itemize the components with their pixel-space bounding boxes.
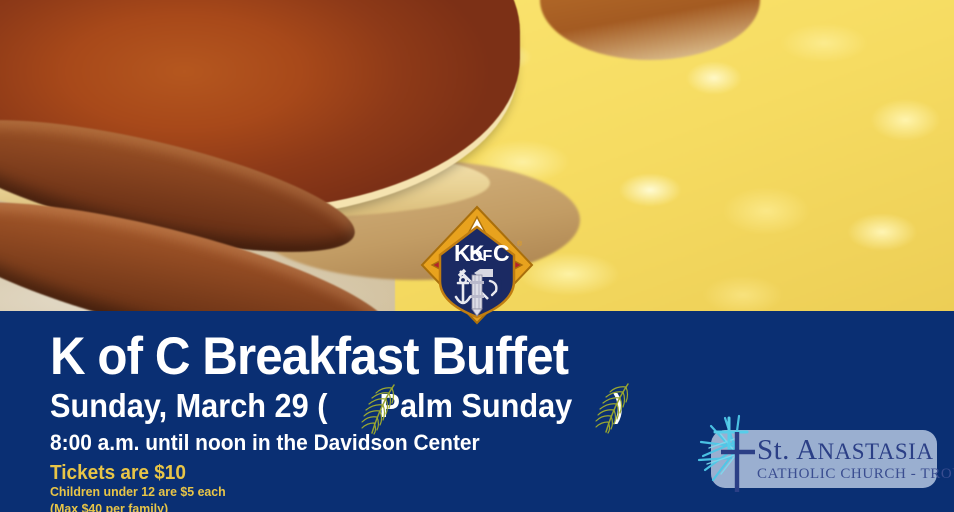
- church-name-prefix: St.: [757, 434, 796, 466]
- church-logo-text: St. ANASTASIA CATHOLIC CHURCH - TROY: [757, 436, 954, 482]
- svg-text:K: K: [454, 240, 471, 266]
- ticket-pricing: Tickets are $10 Children under 12 are $5…: [50, 462, 226, 512]
- church-subtitle: CATHOLIC CHURCH - TROY: [757, 467, 954, 482]
- church-name-initial: A: [796, 434, 817, 466]
- event-date-line: Sunday, March 29 ( Palm Sunday ): [50, 389, 623, 422]
- poster-root: K . K OF C ®: [0, 0, 954, 512]
- event-date-prefix: Sunday, March 29 (: [50, 389, 327, 422]
- ticket-children-line: Children under 12 are $5 each: [50, 484, 226, 500]
- ticket-price-line: Tickets are $10: [50, 462, 226, 484]
- svg-text:®: ®: [517, 240, 523, 248]
- event-date-middle: Palm Sunday: [380, 389, 573, 422]
- palm-frond-icon: [592, 382, 636, 434]
- svg-text:C: C: [493, 240, 510, 266]
- ticket-max-line: (Max $40 per family): [50, 501, 226, 512]
- knights-of-columbus-emblem: K . K OF C ®: [418, 203, 536, 327]
- church-name: St. ANASTASIA: [757, 436, 954, 465]
- palm-frond-icon: [358, 383, 402, 435]
- time-location-line: 8:00 a.m. until noon in the Davidson Cen…: [50, 432, 480, 454]
- page-title: K of C Breakfast Buffet: [50, 330, 568, 383]
- church-name-rest: NASTASIA: [818, 439, 934, 464]
